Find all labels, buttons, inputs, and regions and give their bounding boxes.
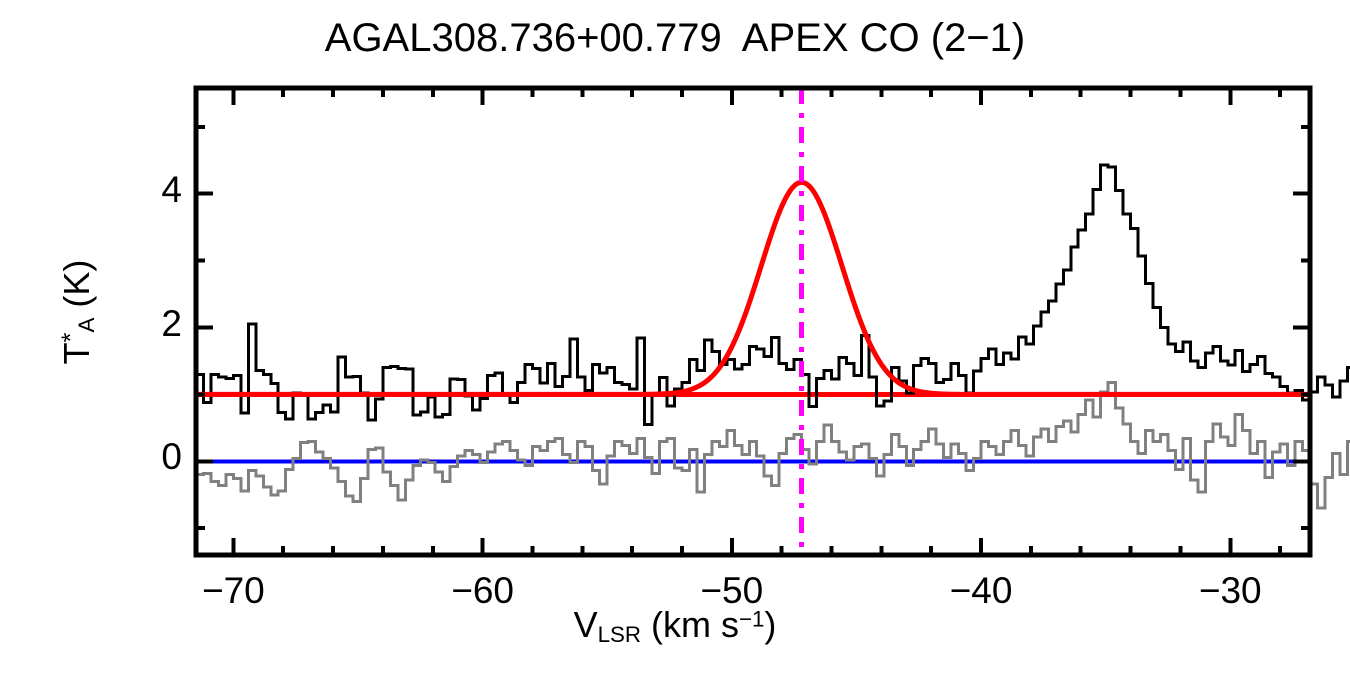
spectrum-figure: AGAL308.736+00.779 APEX CO (2−1) −70 −60… [0, 0, 1350, 675]
y-axis-label-star: * [57, 333, 85, 343]
ytick-label: 0 [122, 436, 182, 478]
series-spectrum [196, 165, 1350, 425]
y-axis-label: T*A (K) [56, 162, 100, 462]
data-series-group [196, 165, 1350, 511]
ytick-label: 4 [122, 169, 182, 211]
x-axis-units-close: ) [764, 604, 776, 645]
x-axis-units-open: (km s [641, 604, 739, 645]
plot-frame [196, 88, 1310, 555]
x-axis-label-sub: LSR [598, 622, 641, 647]
y-axis-label-main: T [56, 342, 97, 364]
x-axis-label: VLSR (km s−1) [0, 604, 1350, 648]
y-axis-label-sub: A [74, 318, 99, 333]
gaussian-fit [196, 182, 1309, 394]
x-axis-units-exponent: −1 [739, 607, 764, 632]
axes-group [196, 88, 1310, 555]
y-axis-units: (K) [56, 260, 97, 318]
reference-lines-group [196, 394, 1310, 461]
fit-curve-group [196, 182, 1309, 394]
x-axis-label-main: V [574, 604, 598, 645]
ytick-label: 2 [122, 303, 182, 345]
